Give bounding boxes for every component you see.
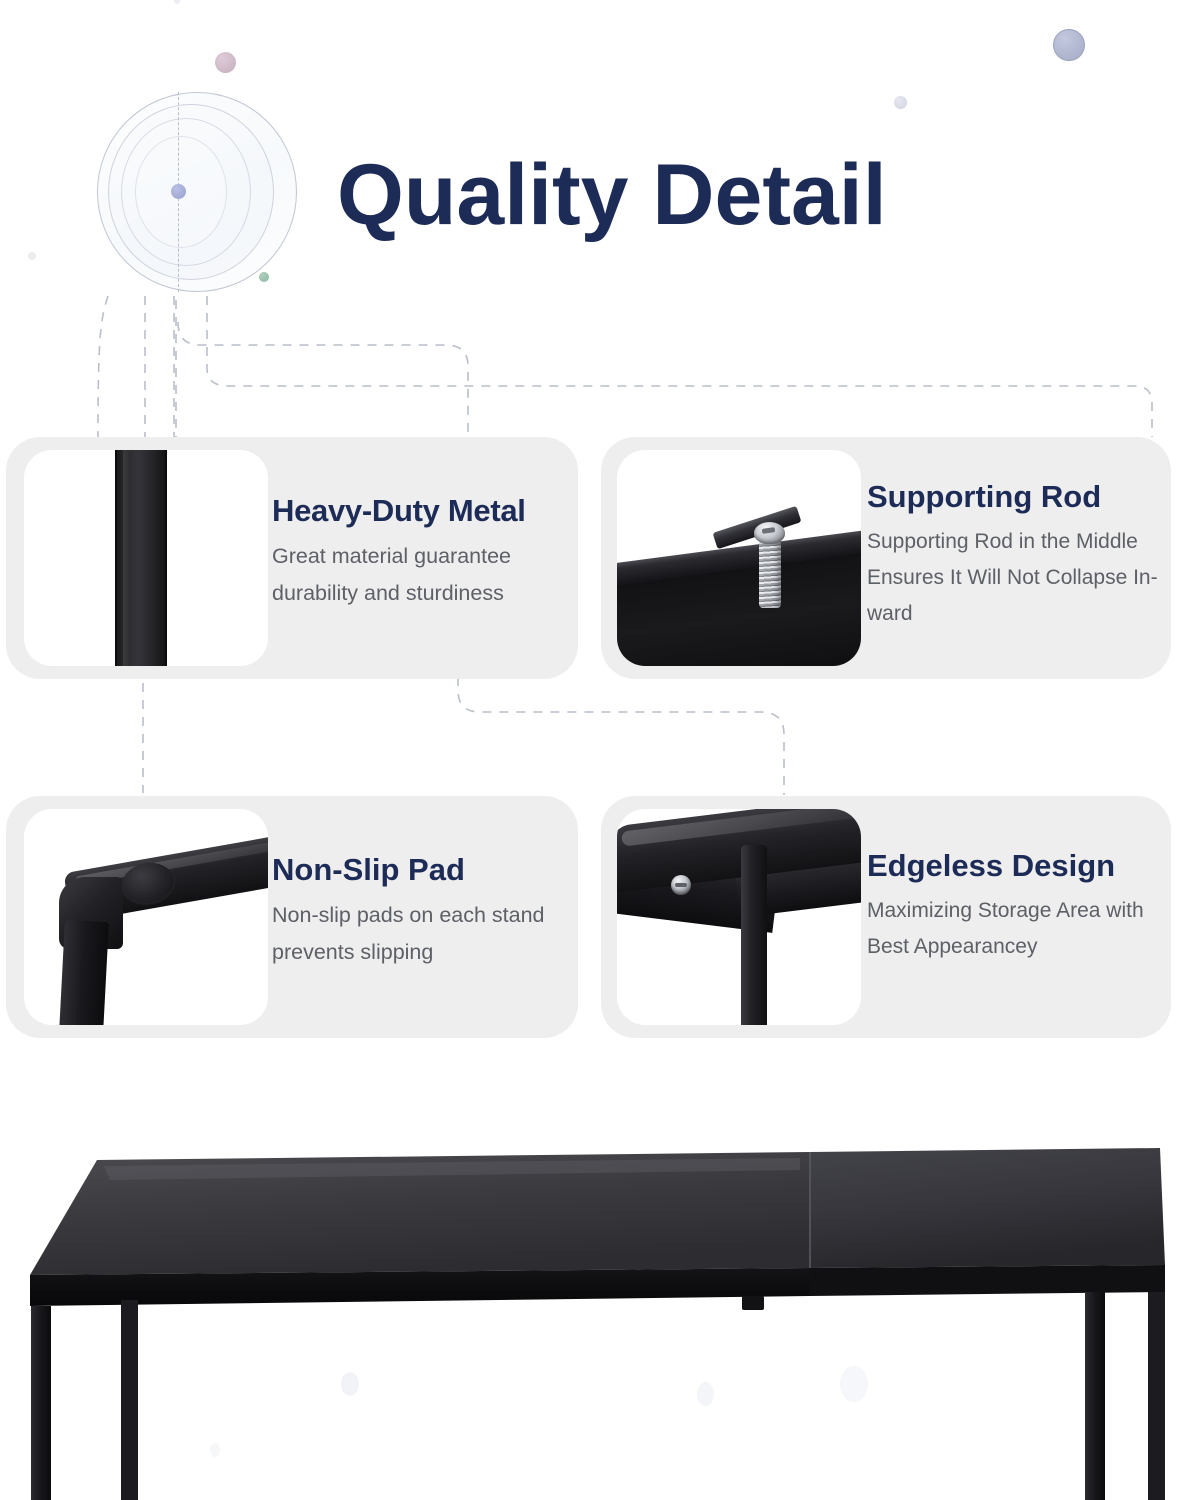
feature-description-heavy-duty-metal: Great material guarantee durability and …: [272, 538, 572, 612]
feature-card-heavy-duty-metal[interactable]: Heavy-Duty Metal Great material guarante…: [6, 437, 578, 679]
table-leg-rear-right: [1148, 1292, 1165, 1500]
product-decor-dot-4-icon: [210, 1443, 220, 1457]
table-leg-shape: [741, 845, 767, 1025]
screw-thread-shape: [759, 542, 781, 608]
table-leg-rear-left: [121, 1300, 138, 1500]
table-center-bracket: [742, 1296, 764, 1310]
feature-title-non-slip-pad: Non-Slip Pad: [272, 854, 572, 887]
corner-screw-shape: [671, 875, 691, 895]
product-decor-dot-3-icon: [840, 1366, 868, 1402]
feature-description-non-slip-pad: Non-slip pads on each stand prevents sli…: [272, 897, 572, 971]
feature-title-edgeless-design: Edgeless Design: [867, 850, 1167, 883]
feature-description-supporting-rod: Supporting Rod in the Middle Ensures It …: [867, 524, 1167, 632]
metal-bar-shape: [115, 450, 167, 666]
vertical-metal-bar-photo-icon: [24, 450, 268, 666]
product-decor-dot-1-icon: [341, 1372, 359, 1396]
table-corner-screw-photo-icon: [617, 809, 861, 1025]
table-top-right-panel: [810, 1148, 1165, 1268]
product-photo-console-table: [0, 1110, 1177, 1500]
feature-card-supporting-rod[interactable]: Supporting Rod Supporting Rod in the Mid…: [601, 437, 1171, 679]
non-slip-pad-leg-photo-icon: [24, 809, 268, 1025]
table-leg-front-left: [31, 1306, 51, 1500]
feature-title-supporting-rod: Supporting Rod: [867, 481, 1167, 514]
product-decor-dot-2-icon: [697, 1382, 714, 1406]
screw-head-shape: [754, 522, 785, 544]
table-leg-front-right: [1085, 1292, 1105, 1500]
table-front-apron-right: [810, 1265, 1165, 1296]
feature-description-edgeless-design: Maximizing Storage Area with Best Appear…: [867, 893, 1167, 965]
feature-title-heavy-duty-metal: Heavy-Duty Metal: [272, 495, 572, 528]
leg-vertical-shape: [59, 920, 109, 1025]
supporting-rod-with-screw-photo-icon: [617, 450, 861, 666]
feature-cards: Heavy-Duty Metal Great material guarante…: [0, 0, 1177, 1060]
console-table-illustration: [0, 1110, 1177, 1500]
feature-card-edgeless-design[interactable]: Edgeless Design Maximizing Storage Area …: [601, 796, 1171, 1038]
feature-card-non-slip-pad[interactable]: Non-Slip Pad Non-slip pads on each stand…: [6, 796, 578, 1038]
